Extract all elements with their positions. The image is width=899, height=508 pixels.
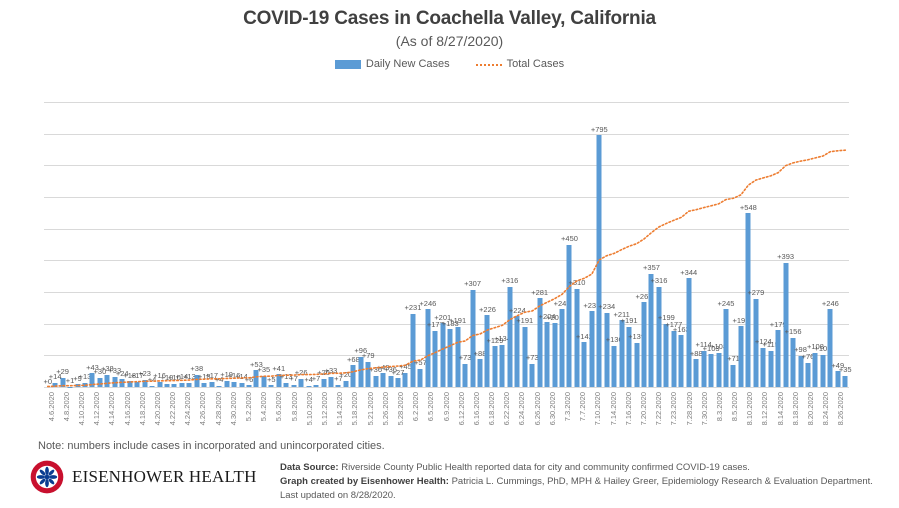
x-axis-tick: 6.30.2020 — [549, 392, 557, 425]
x-axis-tick: 8.24.2020 — [822, 392, 830, 425]
x-axis-tick: 7.7.2020 — [579, 392, 587, 421]
page-title: COVID-19 Cases in Coachella Valley, Cali… — [0, 8, 899, 30]
x-axis-tick: 4.6.2020 — [48, 392, 56, 421]
legend-label-total-cases: Total Cases — [507, 58, 564, 70]
x-axis-tick: 4.14.2020 — [108, 392, 116, 425]
bar-swatch-icon — [335, 60, 361, 69]
x-axis-tick: 7.16.2020 — [625, 392, 633, 425]
credits-line-data-source: Data Source: Riverside County Public Hea… — [280, 461, 890, 475]
eisenhower-star-logo-icon — [30, 460, 64, 494]
x-axis-tick: 5.8.2020 — [291, 392, 299, 421]
x-axis-tick: 8.26.2020 — [837, 392, 845, 425]
x-axis-tick: 8.12.2020 — [761, 392, 769, 425]
x-axis-tick: 6.22.2020 — [503, 392, 511, 425]
legend-item-total-cases: Total Cases — [476, 58, 564, 70]
x-axis-tick: 5.18.2020 — [351, 392, 359, 425]
x-axis-tick: 7.3.2020 — [564, 392, 572, 421]
x-axis-tick: 5.14.2020 — [336, 392, 344, 425]
legend-item-daily-new-cases: Daily New Cases — [335, 58, 450, 70]
x-axis-tick: 4.18.2020 — [139, 392, 147, 425]
x-axis-tick: 6.18.2020 — [488, 392, 496, 425]
chart-legend: Daily New Cases Total Cases — [0, 58, 899, 70]
credits-block: Data Source: Riverside County Public Hea… — [280, 460, 890, 502]
x-axis-tick: 5.26.2020 — [382, 392, 390, 425]
x-axis-tick: 6.5.2020 — [427, 392, 435, 421]
x-axis-tick: 4.24.2020 — [184, 392, 192, 425]
x-axis-tick: 8.18.2020 — [792, 392, 800, 425]
x-axis-tick: 5.12.2020 — [321, 392, 329, 425]
x-axis-tick: 7.23.2020 — [670, 392, 678, 425]
legend-label-daily-new-cases: Daily New Cases — [366, 58, 450, 70]
gridline — [44, 387, 849, 388]
plot-inner: +0+100+200+300+400+500+600+700+800+900 0… — [44, 102, 849, 387]
x-axis-tick: 4.12.2020 — [93, 392, 101, 425]
dotted-line-swatch-icon — [476, 60, 502, 69]
x-axis-tick: 7.20.2020 — [640, 392, 648, 425]
x-axis-tick: 4.20.2020 — [154, 392, 162, 425]
x-axis-tick: 4.8.2020 — [63, 392, 71, 421]
credits-text-data-source: Riverside County Public Health reported … — [339, 462, 750, 473]
chart-note: Note: numbers include cases in incorpora… — [38, 440, 385, 452]
brand-block: EISENHOWER HEALTH — [30, 460, 270, 494]
x-axis-tick: 7.10.2020 — [594, 392, 602, 425]
x-axis-tick: 4.16.2020 — [124, 392, 132, 425]
line-series-total-cases — [44, 102, 849, 387]
x-axis-tick: 6.24.2020 — [518, 392, 526, 425]
credits-label-data-source: Data Source: — [280, 462, 339, 473]
x-axis-tick: 4.28.2020 — [215, 392, 223, 425]
x-axis-tick: 7.22.2020 — [655, 392, 663, 425]
x-axis-tick: 6.9.2020 — [443, 392, 451, 421]
x-axis-tick: 4.22.2020 — [169, 392, 177, 425]
x-axis-tick: 5.6.2020 — [275, 392, 283, 421]
x-axis-tick: 4.26.2020 — [199, 392, 207, 425]
x-axis-tick-labels: 4.6.20204.8.20204.10.20204.12.20204.14.2… — [44, 392, 849, 440]
x-axis-tick: 5.2.2020 — [245, 392, 253, 421]
x-axis-tick: 5.28.2020 — [397, 392, 405, 425]
credits-line-graph-creator: Graph created by Eisenhower Health: Patr… — [280, 475, 890, 503]
x-axis-tick: 8.14.2020 — [777, 392, 785, 425]
x-axis-tick: 7.14.2020 — [610, 392, 618, 425]
x-axis-tick: 8.3.2020 — [716, 392, 724, 421]
x-axis-tick: 6.12.2020 — [458, 392, 466, 425]
chart-plot-area: +0+100+200+300+400+500+600+700+800+900 0… — [0, 100, 899, 390]
x-axis-tick: 5.10.2020 — [306, 392, 314, 425]
brand-name: EISENHOWER HEALTH — [72, 467, 257, 487]
x-axis-tick: 7.30.2020 — [701, 392, 709, 425]
x-axis-tick: 8.10.2020 — [746, 392, 754, 425]
x-axis-tick: 6.26.2020 — [534, 392, 542, 425]
x-axis-tick: 4.30.2020 — [230, 392, 238, 425]
x-axis-tick: 4.10.2020 — [78, 392, 86, 425]
x-axis-tick: 5.4.2020 — [260, 392, 268, 421]
credits-label-graph-creator: Graph created by Eisenhower Health: — [280, 476, 449, 487]
x-axis-tick: 6.16.2020 — [473, 392, 481, 425]
x-axis-tick: 7.28.2020 — [686, 392, 694, 425]
chart-subtitle: (As of 8/27/2020) — [0, 33, 899, 49]
footer: EISENHOWER HEALTH Data Source: Riverside… — [30, 460, 890, 502]
x-axis-tick: 8.5.2020 — [731, 392, 739, 421]
x-axis-tick: 5.21.2020 — [367, 392, 375, 425]
total-cases-dotted-line — [48, 150, 846, 386]
x-axis-tick: 6.2.2020 — [412, 392, 420, 421]
x-axis-tick: 8.20.2020 — [807, 392, 815, 425]
